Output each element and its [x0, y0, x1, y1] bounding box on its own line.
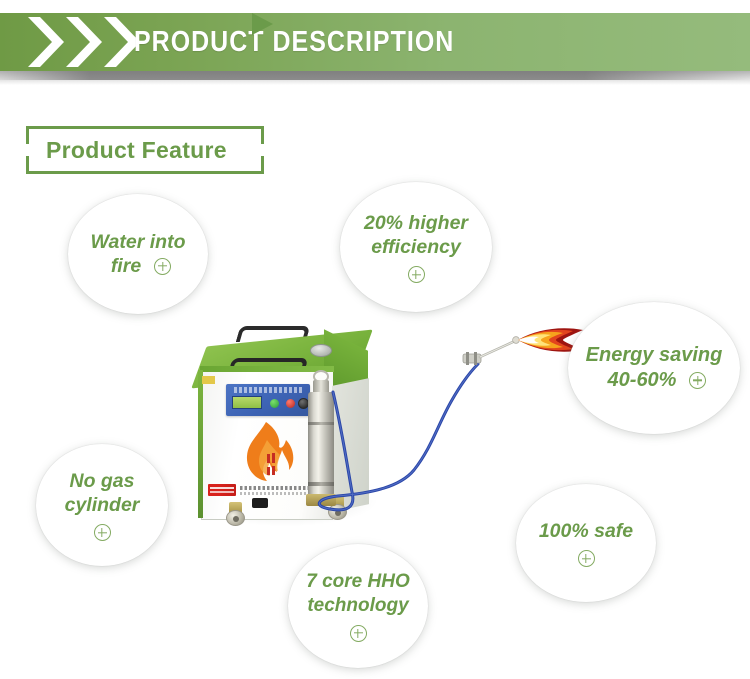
brand-logo — [208, 484, 236, 496]
feature-bubble-water-into-fire[interactable]: Water into fire — [68, 194, 208, 314]
plus-circle-icon[interactable] — [154, 258, 171, 275]
machine-yellow-sticker — [202, 376, 215, 384]
machine-control-panel[interactable] — [226, 384, 310, 416]
lcd-display — [232, 396, 262, 409]
feature-text-line1: 20% higher — [358, 211, 474, 235]
feature-bubble-energy-saving[interactable]: Energy saving 40-60% — [568, 302, 740, 434]
feature-text-line1: No gas — [63, 469, 140, 493]
plus-circle-icon[interactable] — [94, 524, 111, 541]
feature-text-line2: fire — [105, 254, 147, 278]
feature-text-line1: Energy saving — [580, 343, 729, 368]
plus-circle-icon[interactable] — [408, 266, 425, 283]
feature-text-line1: 7 core HHO — [300, 570, 415, 594]
feature-text-line2: efficiency — [365, 235, 467, 259]
caster-wheel-icon — [226, 502, 245, 526]
feature-text-line1: 100% safe — [533, 519, 639, 543]
plus-circle-icon[interactable] — [689, 372, 706, 389]
machine-filler-cap — [310, 344, 332, 357]
feature-bubble-safe[interactable]: 100% safe — [516, 484, 656, 602]
feature-bubble-hho-technology[interactable]: 7 core HHO technology — [288, 544, 428, 668]
caster-hub — [335, 510, 341, 516]
flame-logo-icon — [236, 420, 302, 484]
hho-generator-machine — [196, 316, 374, 512]
machine-underside-bracket — [252, 498, 268, 508]
feature-text-line2: 40-60% — [602, 368, 683, 393]
feature-text-line2: cylinder — [59, 493, 146, 517]
feature-line2-row: 40-60% — [602, 368, 707, 393]
caster-hub — [233, 516, 239, 522]
cylinder-foot — [306, 494, 336, 506]
feature-bubble-no-gas-cylinder[interactable]: No gas cylinder — [36, 444, 168, 566]
product-description-page: PRODUCT DESCRIPTION Product Feature — [0, 0, 750, 679]
green-indicator-icon[interactable] — [270, 399, 279, 408]
plus-circle-icon[interactable] — [350, 625, 367, 642]
cylinder-band-upper — [308, 422, 334, 425]
feature-line2-row: fire — [105, 254, 171, 278]
cylinder-band-lower — [308, 482, 334, 486]
gas-cylinder — [304, 370, 338, 506]
plus-circle-icon[interactable] — [578, 550, 595, 567]
machine-green-left-edge — [198, 370, 203, 518]
feature-text-line1: Water into — [85, 230, 192, 254]
feature-bubble-higher-efficiency[interactable]: 20% higher efficiency — [340, 182, 492, 312]
cylinder-body — [308, 392, 334, 496]
feature-text-line2: technology — [301, 594, 414, 618]
panel-title-text — [234, 387, 304, 393]
red-indicator-icon[interactable] — [286, 399, 295, 408]
torch-handle — [463, 352, 481, 365]
